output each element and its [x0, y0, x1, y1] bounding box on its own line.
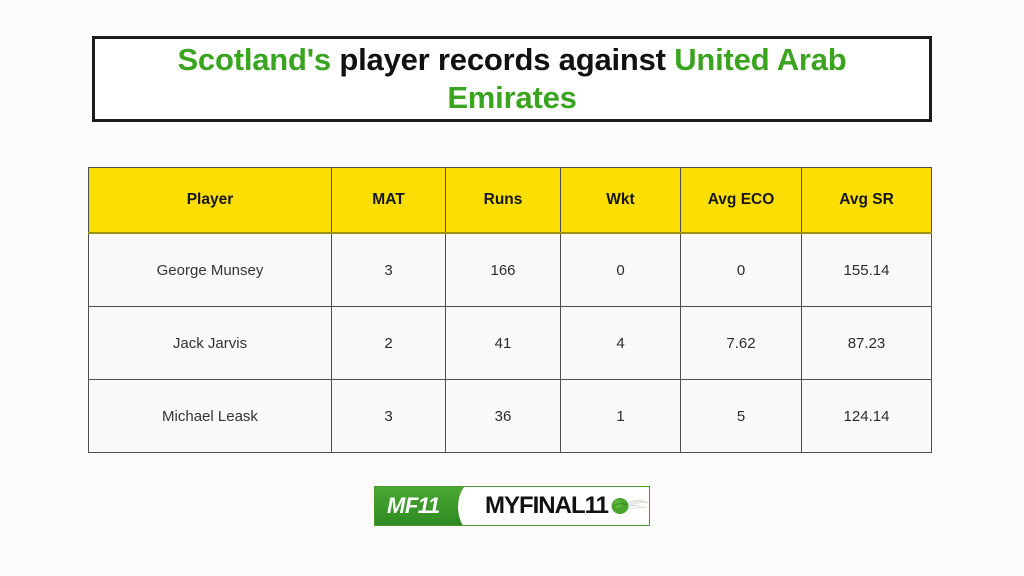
cell-wkt: 1: [561, 380, 681, 453]
cell-runs: 41: [446, 307, 561, 380]
logo-badge-label: MF11: [387, 493, 440, 519]
title-middle-text: player records against: [331, 42, 674, 77]
cell-avg-sr: 87.23: [802, 307, 932, 380]
title-team-home: Scotland's: [177, 42, 331, 77]
cell-player: George Munsey: [89, 233, 332, 307]
cell-player: Jack Jarvis: [89, 307, 332, 380]
page-title: Scotland's player records against United…: [95, 41, 929, 117]
logo-wordmark: MYFINAL11: [475, 487, 649, 525]
cell-avg-sr: 155.14: [802, 233, 932, 307]
page-title-box: Scotland's player records against United…: [92, 36, 932, 122]
cell-avg-eco: 0: [681, 233, 802, 307]
myfinal11-logo: MF11 MYFINAL11: [374, 486, 650, 526]
player-records-table: Player MAT Runs Wkt Avg ECO Avg SR Georg…: [88, 167, 932, 453]
cell-runs: 36: [446, 380, 561, 453]
cell-mat: 3: [332, 233, 446, 307]
logo-wordmark-label: MYFINAL11: [485, 492, 608, 520]
cell-mat: 3: [332, 380, 446, 453]
table-row: Jack Jarvis 2 41 4 7.62 87.23: [89, 307, 932, 380]
cell-runs: 166: [446, 233, 561, 307]
logo-badge: MF11: [375, 487, 475, 525]
table-row: Michael Leask 3 36 1 5 124.14: [89, 380, 932, 453]
column-header-wkt: Wkt: [561, 168, 681, 234]
cricket-ball-icon: [609, 494, 649, 518]
cell-wkt: 0: [561, 233, 681, 307]
cell-wkt: 4: [561, 307, 681, 380]
table-row: George Munsey 3 166 0 0 155.14: [89, 233, 932, 307]
table-header-row: Player MAT Runs Wkt Avg ECO Avg SR: [89, 168, 932, 234]
column-header-mat: MAT: [332, 168, 446, 234]
player-records-table-wrapper: Player MAT Runs Wkt Avg ECO Avg SR Georg…: [88, 167, 931, 453]
column-header-player: Player: [89, 168, 332, 234]
column-header-avg-sr: Avg SR: [802, 168, 932, 234]
cell-avg-sr: 124.14: [802, 380, 932, 453]
cell-avg-eco: 7.62: [681, 307, 802, 380]
cell-mat: 2: [332, 307, 446, 380]
cell-player: Michael Leask: [89, 380, 332, 453]
column-header-runs: Runs: [446, 168, 561, 234]
column-header-avg-eco: Avg ECO: [681, 168, 802, 234]
cell-avg-eco: 5: [681, 380, 802, 453]
